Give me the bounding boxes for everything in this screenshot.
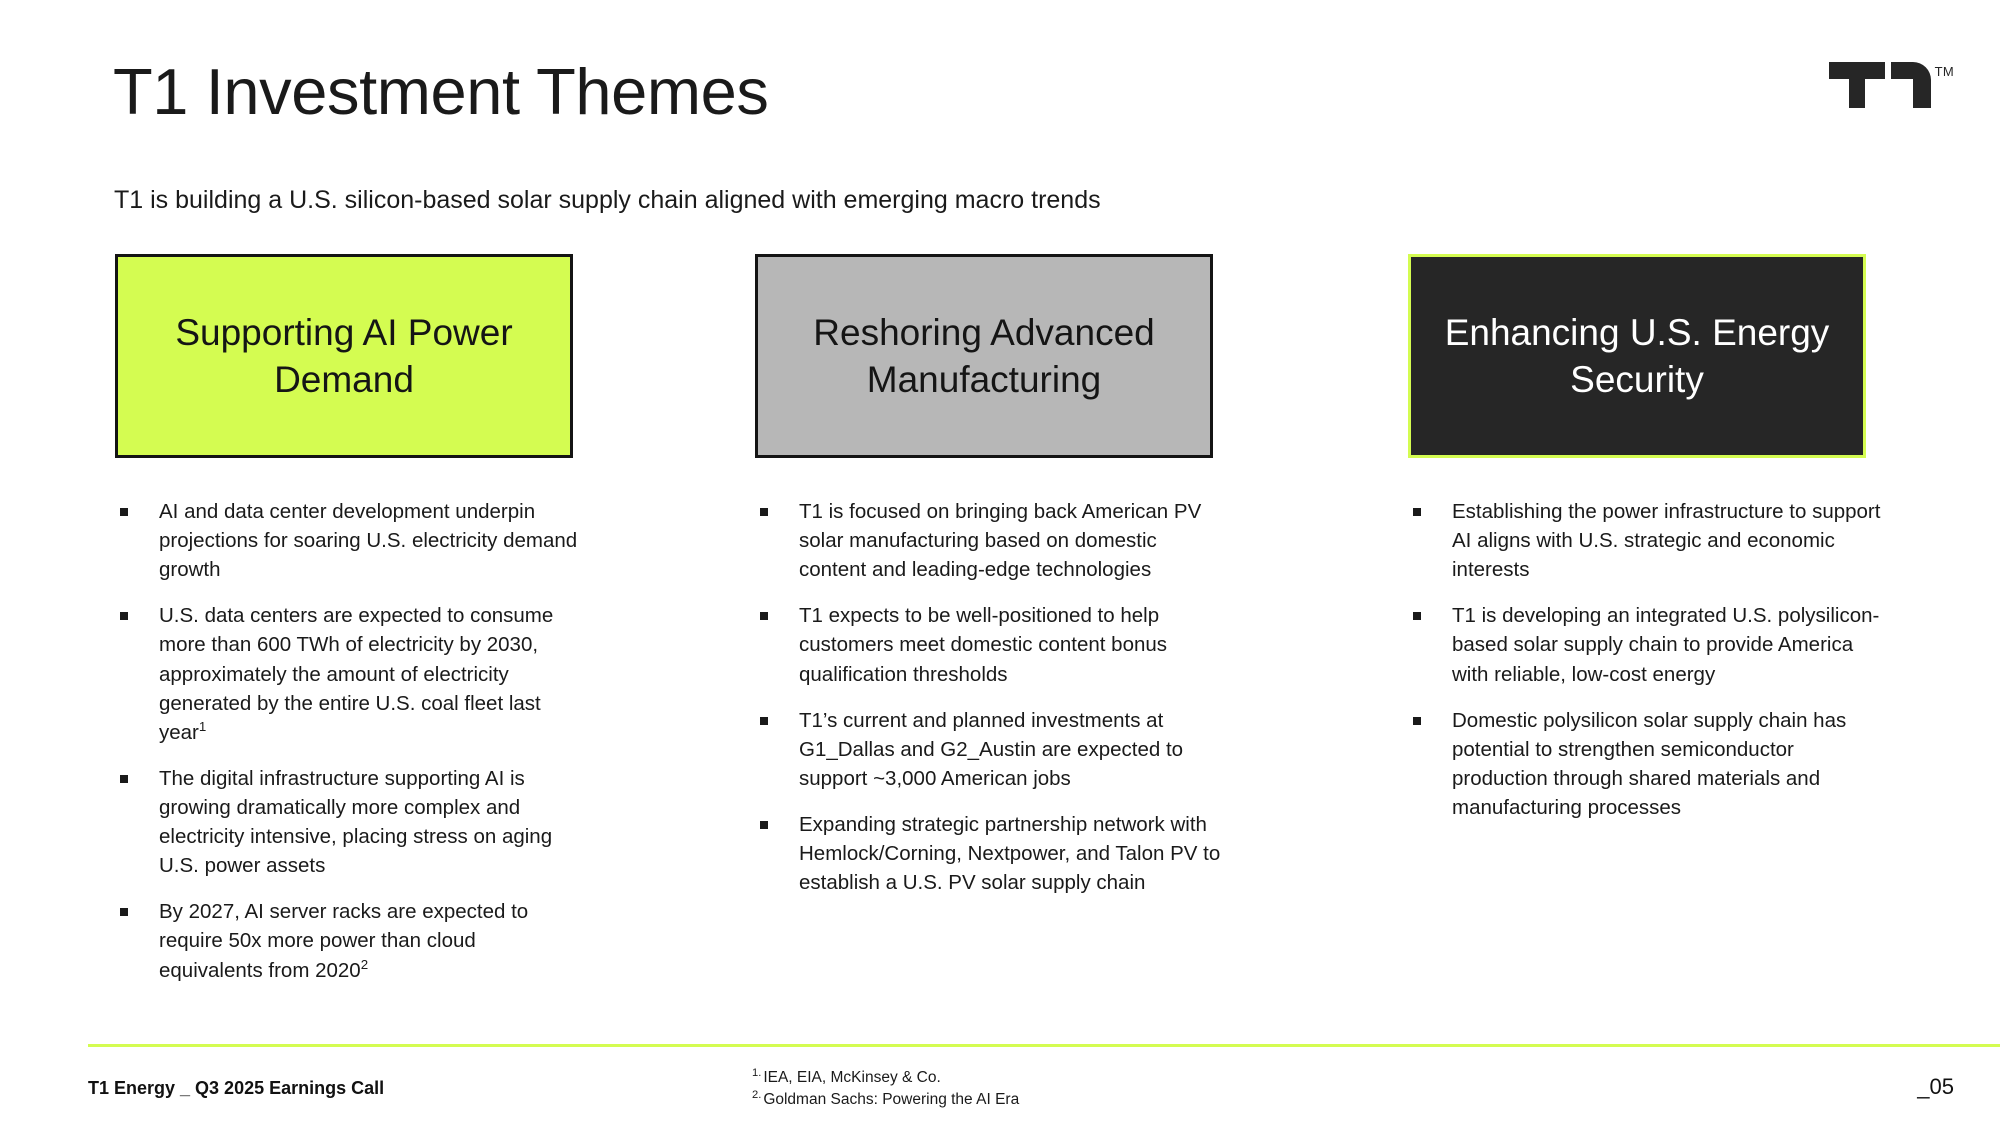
list-item: AI and data center development underpin …	[115, 497, 585, 584]
bullet-text: T1’s current and planned investments at …	[799, 706, 1225, 793]
theme-heading-1: Supporting AI Power Demand	[140, 309, 548, 404]
presentation-slide: T1 Investment Themes T1 is building a U.…	[0, 0, 2000, 1125]
footer-label: T1 Energy _ Q3 2025 Earnings Call	[88, 1078, 384, 1099]
list-item: Establishing the power infrastructure to…	[1408, 497, 1888, 584]
list-item: By 2027, AI server racks are expected to…	[115, 897, 585, 984]
bullet-text: T1 expects to be well-positioned to help…	[799, 601, 1225, 688]
bullet-marker-icon	[115, 601, 159, 620]
bullet-list-2: T1 is focused on bringing back American …	[755, 497, 1225, 897]
footnote-2-text: Goldman Sachs: Powering the AI Era	[763, 1091, 1019, 1108]
footnote-1-text: IEA, EIA, McKinsey & Co.	[763, 1069, 940, 1086]
bullet-text: T1 is developing an integrated U.S. poly…	[1452, 601, 1888, 688]
footnote-2-marker: 2.	[752, 1089, 761, 1101]
bullet-text: Expanding strategic partnership network …	[799, 810, 1225, 897]
bullet-marker-icon	[755, 497, 799, 516]
bullet-marker-icon	[1408, 706, 1452, 725]
bullet-text: Domestic polysilicon solar supply chain …	[1452, 706, 1888, 822]
bullet-text: U.S. data centers are expected to consum…	[159, 601, 585, 747]
footnote-2: 2.Goldman Sachs: Powering the AI Era	[752, 1089, 1019, 1111]
list-item: Expanding strategic partnership network …	[755, 810, 1225, 897]
theme-column-reshoring-advanced-manufacturing: Reshoring Advanced Manufacturing T1 is f…	[755, 254, 1213, 914]
theme-column-supporting-ai-power-demand: Supporting AI Power Demand AI and data c…	[115, 254, 573, 1002]
theme-header-box-3[interactable]: Enhancing U.S. Energy Security	[1408, 254, 1866, 458]
bullet-marker-icon	[1408, 601, 1452, 620]
bullet-marker-icon	[1408, 497, 1452, 516]
theme-heading-3: Enhancing U.S. Energy Security	[1433, 309, 1841, 404]
theme-header-box-1[interactable]: Supporting AI Power Demand	[115, 254, 573, 458]
footer-divider	[88, 1044, 2000, 1047]
bullet-marker-icon	[115, 497, 159, 516]
bullet-text: Establishing the power infrastructure to…	[1452, 497, 1888, 584]
list-item: The digital infrastructure supporting AI…	[115, 764, 585, 880]
page-number: _05	[1917, 1074, 1954, 1100]
list-item: T1 expects to be well-positioned to help…	[755, 601, 1225, 688]
list-item: Domestic polysilicon solar supply chain …	[1408, 706, 1888, 822]
footnote-1: 1.IEA, EIA, McKinsey & Co.	[752, 1067, 1019, 1089]
theme-header-box-2[interactable]: Reshoring Advanced Manufacturing	[755, 254, 1213, 458]
bullet-list-3: Establishing the power infrastructure to…	[1408, 497, 1888, 822]
list-item: T1’s current and planned investments at …	[755, 706, 1225, 793]
theme-column-enhancing-us-energy-security: Enhancing U.S. Energy Security Establish…	[1408, 254, 1866, 839]
footnotes: 1.IEA, EIA, McKinsey & Co. 2.Goldman Sac…	[752, 1067, 1019, 1112]
bullet-text: AI and data center development underpin …	[159, 497, 585, 584]
bullet-marker-icon	[755, 601, 799, 620]
bullet-marker-icon	[755, 810, 799, 829]
footnote-1-marker: 1.	[752, 1067, 761, 1079]
bullet-marker-icon	[115, 897, 159, 916]
list-item: T1 is developing an integrated U.S. poly…	[1408, 601, 1888, 688]
bullet-text: T1 is focused on bringing back American …	[799, 497, 1225, 584]
list-item: U.S. data centers are expected to consum…	[115, 601, 585, 747]
bullet-marker-icon	[755, 706, 799, 725]
bullet-text: The digital infrastructure supporting AI…	[159, 764, 585, 880]
bullet-text: By 2027, AI server racks are expected to…	[159, 897, 585, 984]
theme-heading-2: Reshoring Advanced Manufacturing	[780, 309, 1188, 404]
list-item: T1 is focused on bringing back American …	[755, 497, 1225, 584]
bullet-marker-icon	[115, 764, 159, 783]
bullet-list-1: AI and data center development underpin …	[115, 497, 585, 985]
themes-columns: Supporting AI Power Demand AI and data c…	[0, 0, 2000, 1125]
